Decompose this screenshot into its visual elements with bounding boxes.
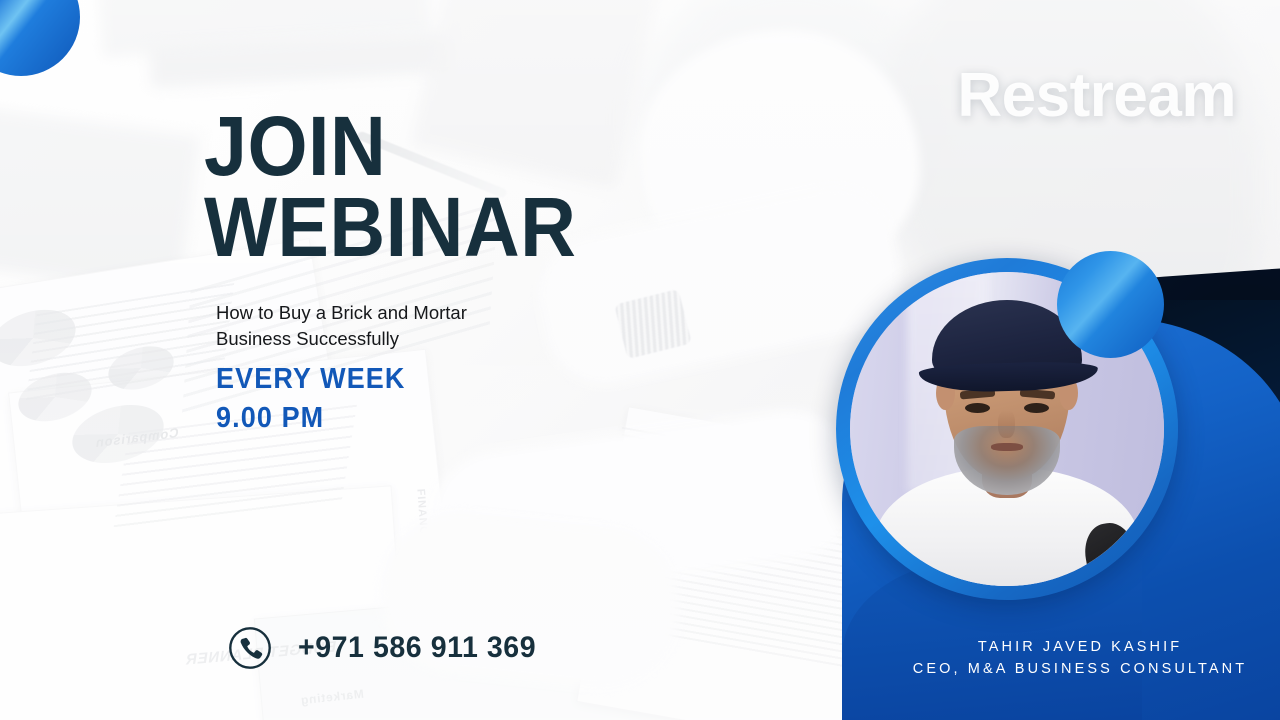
portrait-mouth bbox=[991, 443, 1022, 451]
portrait-eye bbox=[1024, 403, 1049, 413]
headline-line-1: JOIN bbox=[204, 99, 386, 193]
background-paper-sheet bbox=[0, 485, 407, 720]
background-pie-chart bbox=[107, 342, 176, 394]
background-blur-blob bbox=[640, 0, 940, 270]
background-hand bbox=[640, 30, 920, 290]
speaker-role: CEO, M&A BUSINESS CONSULTANT bbox=[900, 658, 1260, 680]
speaker-caption: TAHIR JAVED KASHIF CEO, M&A BUSINESS CON… bbox=[900, 636, 1260, 681]
phone-icon bbox=[228, 626, 272, 670]
phone-number: +971 586 911 369 bbox=[298, 631, 536, 665]
schedule-frequency: EVERY WEEK bbox=[216, 360, 406, 399]
restream-watermark: Restream bbox=[957, 60, 1236, 131]
background-text-lines bbox=[26, 283, 234, 403]
headline-line-2: WEBINAR bbox=[204, 187, 576, 268]
accent-dot-circle bbox=[1057, 251, 1164, 358]
background-label: Comparison bbox=[94, 425, 179, 451]
background-label: FINANCE bbox=[414, 488, 430, 543]
background-desk-shape bbox=[149, 32, 451, 88]
speaker-name: TAHIR JAVED KASHIF bbox=[900, 636, 1260, 658]
background-sleeve bbox=[422, 401, 869, 609]
background-desk-shape bbox=[98, 0, 432, 57]
background-pie-chart bbox=[69, 399, 166, 468]
contact-row[interactable]: +971 586 911 369 bbox=[228, 626, 549, 670]
schedule-block: EVERY WEEK 9.00 PM bbox=[216, 360, 406, 438]
background-text-lines bbox=[622, 427, 868, 673]
background-desk-shape bbox=[0, 105, 200, 295]
background-pie-chart bbox=[0, 304, 78, 372]
background-watch bbox=[614, 289, 692, 359]
background-pie-chart bbox=[16, 368, 93, 427]
schedule-time: 9.00 PM bbox=[216, 399, 406, 438]
webinar-promo-slide: Comparison BUDGET PLANNER FINANCE Market… bbox=[0, 0, 1280, 720]
background-label: Marketing bbox=[299, 687, 364, 708]
page-title: JOIN WEBINAR bbox=[204, 106, 576, 269]
webinar-subtitle: How to Buy a Brick and Mortar Business S… bbox=[216, 300, 546, 353]
portrait-eye bbox=[965, 403, 990, 413]
